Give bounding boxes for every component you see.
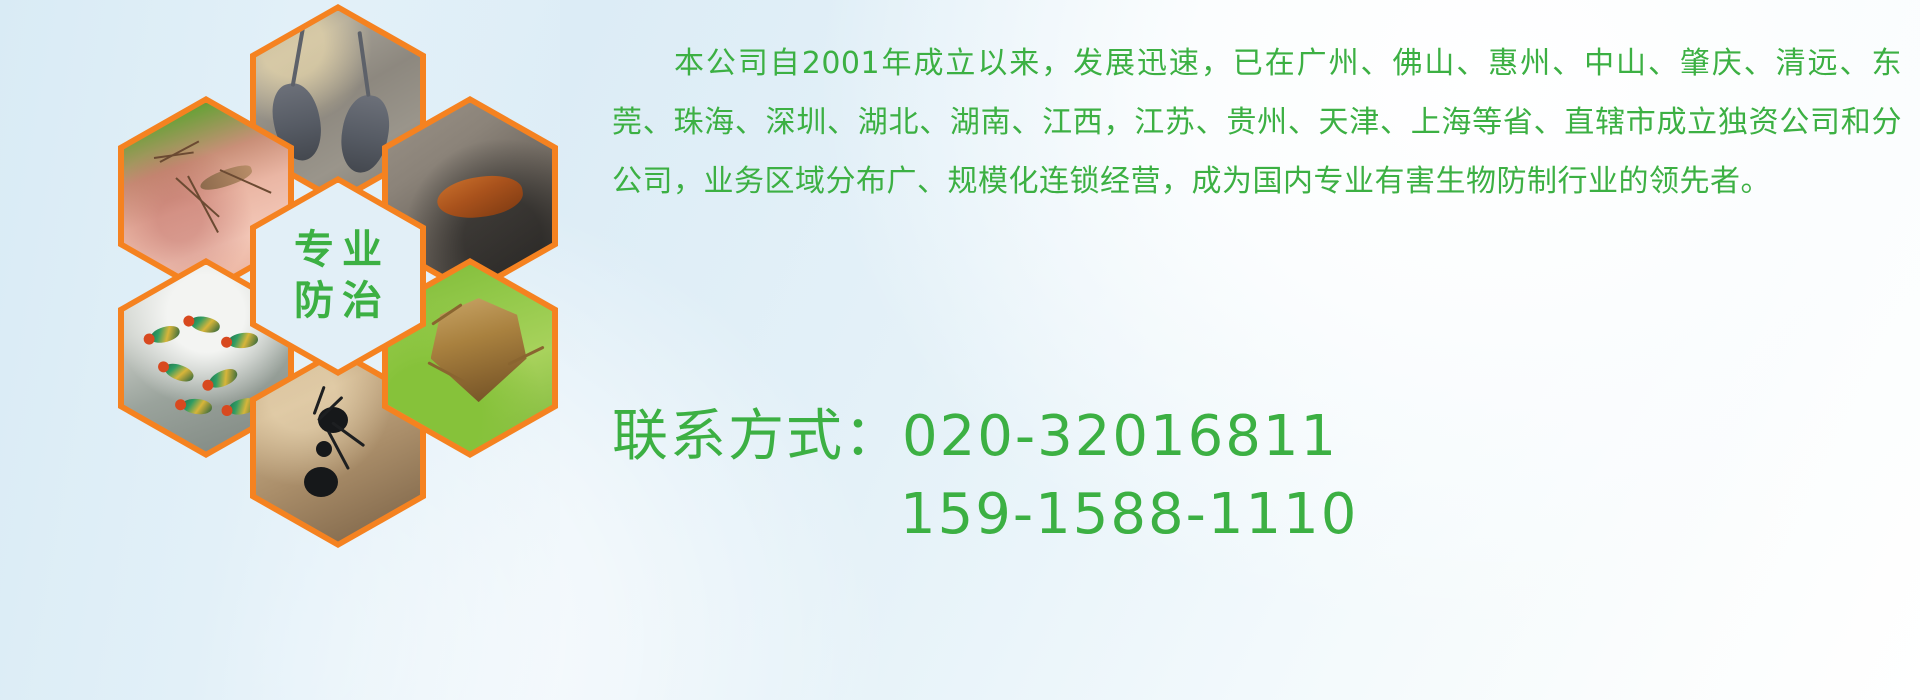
slogan-line-1: 专业	[286, 228, 390, 273]
company-copy: 本公司自2001年成立以来，发展迅速，已在广州、佛山、惠州、中山、肇庆、清远、东…	[612, 34, 1902, 211]
contact-block: 联系方式：020-32016811 159-1588-1110	[612, 398, 1912, 554]
company-description: 本公司自2001年成立以来，发展迅速，已在广州、佛山、惠州、中山、肇庆、清远、东…	[612, 34, 1902, 211]
contact-line-primary[interactable]: 联系方式：020-32016811	[612, 398, 1912, 476]
slogan-line-2: 防治	[286, 279, 390, 324]
promo-banner: 专业 防治 本公司自2001年成立以来，发展迅速，已在广州、佛山、惠州、中山、肇…	[0, 0, 1920, 700]
hex-center-slogan-inner: 专业 防治	[256, 183, 420, 370]
contact-line-secondary[interactable]: 159-1588-1110	[612, 476, 1912, 554]
hex-photo-cluster: 专业 防治	[78, 0, 598, 570]
slogan-text: 专业 防治	[256, 183, 420, 370]
